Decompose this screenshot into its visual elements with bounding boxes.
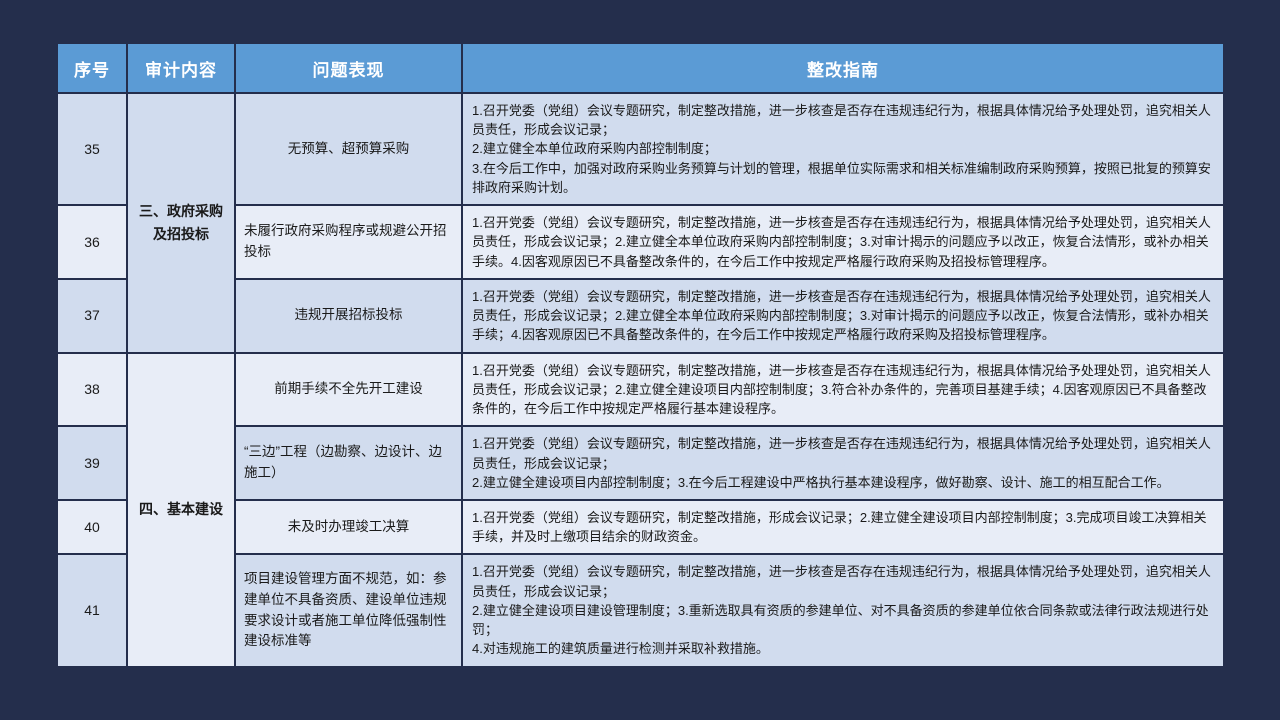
cell-problem: 项目建设管理方面不规范，如：参建单位不具备资质、建设单位违规要求设计或者施工单位…	[236, 555, 461, 665]
cell-problem: 未履行政府采购程序或规避公开招投标	[236, 206, 461, 278]
cell-row-number: 38	[58, 354, 126, 426]
cell-problem: “三边”工程（边勘察、边设计、边施工）	[236, 427, 461, 499]
col-header-problem: 问题表现	[236, 44, 461, 92]
cell-guidance: 1.召开党委（党组）会议专题研究，制定整改措施，进一步核查是否存在违规违纪行为，…	[463, 280, 1223, 352]
cell-guidance: 1.召开党委（党组）会议专题研究，制定整改措施，进一步核查是否存在违规违纪行为，…	[463, 427, 1223, 499]
cell-guidance: 1.召开党委（党组）会议专题研究，制定整改措施，进一步核查是否存在违规违纪行为，…	[463, 555, 1223, 665]
cell-row-number: 37	[58, 280, 126, 352]
col-header-no: 序号	[58, 44, 126, 92]
slide-root: 序号 审计内容 问题表现 整改指南 35三、政府采购及招投标无预算、超预算采购1…	[0, 0, 1280, 720]
cell-row-number: 35	[58, 94, 126, 204]
table-row: 38四、基本建设前期手续不全先开工建设1.召开党委（党组）会议专题研究，制定整改…	[58, 354, 1223, 426]
cell-problem: 前期手续不全先开工建设	[236, 354, 461, 426]
table-row: 35三、政府采购及招投标无预算、超预算采购1.召开党委（党组）会议专题研究，制定…	[58, 94, 1223, 204]
cell-guidance: 1.召开党委（党组）会议专题研究，制定整改措施，进一步核查是否存在违规违纪行为，…	[463, 354, 1223, 426]
audit-rectification-table: 序号 审计内容 问题表现 整改指南 35三、政府采购及招投标无预算、超预算采购1…	[56, 42, 1225, 668]
cell-problem: 违规开展招标投标	[236, 280, 461, 352]
cell-row-number: 36	[58, 206, 126, 278]
col-header-guidance: 整改指南	[463, 44, 1223, 92]
cell-audit-category: 四、基本建设	[128, 354, 234, 666]
cell-guidance: 1.召开党委（党组）会议专题研究，制定整改措施，形成会议记录；2.建立健全建设项…	[463, 501, 1223, 553]
cell-guidance: 1.召开党委（党组）会议专题研究，制定整改措施，进一步核查是否存在违规违纪行为，…	[463, 94, 1223, 204]
cell-row-number: 41	[58, 555, 126, 665]
cell-guidance: 1.召开党委（党组）会议专题研究，制定整改措施，进一步核查是否存在违规违纪行为，…	[463, 206, 1223, 278]
col-header-audit-content: 审计内容	[128, 44, 234, 92]
cell-audit-category: 三、政府采购及招投标	[128, 94, 234, 352]
cell-problem: 未及时办理竣工决算	[236, 501, 461, 553]
cell-row-number: 39	[58, 427, 126, 499]
cell-row-number: 40	[58, 501, 126, 553]
audit-rectification-table-wrap: 序号 审计内容 问题表现 整改指南 35三、政府采购及招投标无预算、超预算采购1…	[56, 42, 1225, 668]
cell-problem: 无预算、超预算采购	[236, 94, 461, 204]
table-body: 35三、政府采购及招投标无预算、超预算采购1.召开党委（党组）会议专题研究，制定…	[58, 94, 1223, 666]
table-header: 序号 审计内容 问题表现 整改指南	[58, 44, 1223, 92]
table-header-row: 序号 审计内容 问题表现 整改指南	[58, 44, 1223, 92]
